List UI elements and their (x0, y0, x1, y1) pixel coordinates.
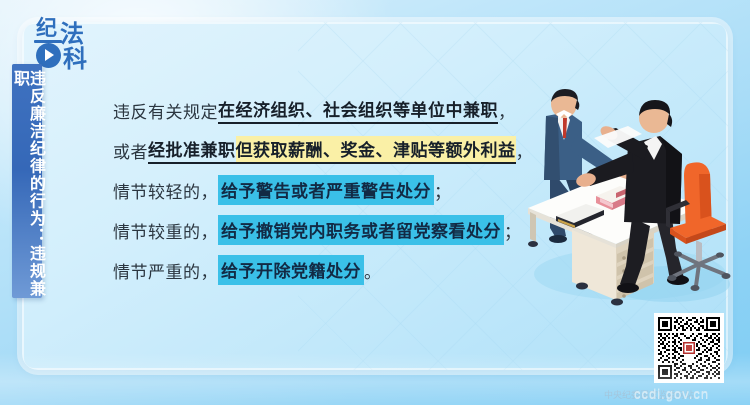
vertical-title-text: 违反廉洁纪律的行为：违规兼职 (11, 70, 43, 298)
text-line-4: 情节较重的，给予撤销党内职务或者留党察看处分； (113, 210, 533, 250)
jifa-baike-logo: 纪 法 科 (32, 16, 102, 78)
line3-seg1: 情节较轻的， (113, 178, 218, 203)
line3-seg2: 给予警告或者严重警告处分 (218, 175, 434, 205)
logo-char-ke: 科 (63, 48, 87, 72)
line5-seg3: 。 (364, 258, 382, 283)
text-line-2: 或者经批准兼职但获取薪酬、奖金、津贴等额外利益， (113, 130, 533, 170)
line1-seg2: 在经济组织、社会组织等单位中兼职 (218, 96, 498, 124)
line2-seg3: 但获取薪酬、奖金、津贴等额外利益 (236, 136, 516, 164)
line3-seg3: ； (434, 178, 452, 203)
vertical-title-banner: 违反廉洁纪律的行为：违规兼职 (12, 64, 42, 298)
regulation-text-block: 违反有关规定在经济组织、社会组织等单位中兼职， 或者经批准兼职但获取薪酬、奖金、… (113, 90, 533, 290)
text-line-1: 违反有关规定在经济组织、社会组织等单位中兼职， (113, 90, 533, 130)
watermark-en: ccdi.gov.cn (634, 386, 709, 401)
brand-badge: 纪 法 科 (32, 16, 104, 78)
line2-seg1: 或者 (113, 138, 148, 163)
text-line-3: 情节较轻的，给予警告或者严重警告处分； (113, 170, 533, 210)
logo-char-fa: 法 (60, 23, 84, 47)
logo-char-ji: 纪 (36, 18, 57, 39)
text-line-5: 情节严重的，给予开除党籍处分。 (113, 250, 533, 290)
line4-seg1: 情节较重的， (113, 218, 218, 243)
line1-seg1: 违反有关规定 (113, 98, 218, 123)
line2-seg2: 经批准兼职 (148, 136, 236, 164)
qr-code[interactable] (654, 313, 724, 383)
line4-seg3: ； (504, 218, 522, 243)
line1-seg3: ， (498, 98, 516, 123)
line5-seg2: 给予开除党籍处分 (218, 255, 364, 285)
line4-seg2: 给予撤销党内职务或者留党察看处分 (218, 215, 504, 245)
bribery-illustration (520, 88, 735, 306)
poster-root: 纪 法 科 违反廉洁纪律的行为：违规兼职 违反有关规定在经济组织、社会组织等单位… (0, 0, 750, 405)
line5-seg1: 情节严重的， (113, 258, 218, 283)
site-watermark: 中央纪委国家监委网站 ccdi.gov.cn (604, 386, 746, 402)
